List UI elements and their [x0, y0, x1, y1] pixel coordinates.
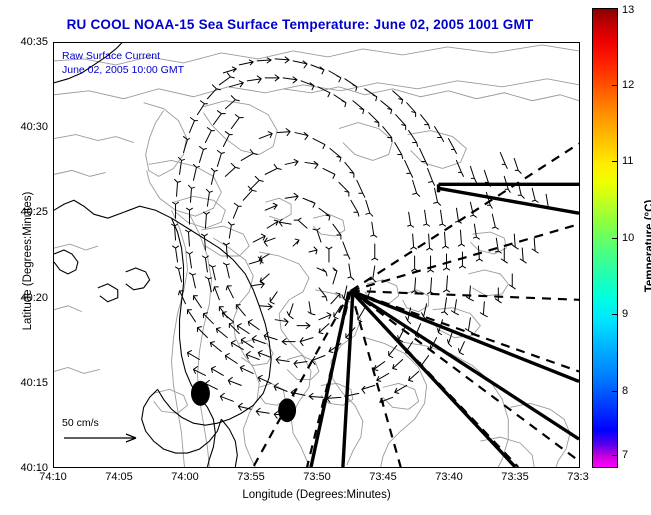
xtick-3: 73:55: [237, 471, 265, 483]
colorbar-tickmark-13: [612, 8, 618, 9]
colorbar-tick-11: 11: [622, 155, 633, 167]
page-title: RU COOL NOAA-15 Sea Surface Temperature:…: [0, 17, 600, 32]
colorbar-label: Temperature (°C): [644, 166, 651, 326]
scale-bar-legend: 50 cm/s: [62, 417, 162, 445]
xtick-5: 73:45: [369, 471, 397, 483]
ytick-0: 40:35: [8, 36, 48, 48]
ytick-1: 40:30: [8, 121, 48, 133]
colorbar-tickmark-12: [612, 85, 618, 86]
scale-bar-arrow: [62, 431, 154, 445]
map-plot-area[interactable]: Raw Surface Current June 02, 2005 10:00 …: [53, 42, 580, 468]
xtick-8: 73:3: [567, 471, 588, 483]
raw-surface-current-annotation: Raw Surface Current June 02, 2005 10:00 …: [62, 49, 184, 77]
scale-bar-label: 50 cm/s: [62, 417, 162, 429]
xtick-4: 73:50: [303, 471, 331, 483]
reference-arrow-icon: [62, 431, 154, 445]
colorbar-tickmark-7: [612, 455, 618, 456]
xtick-2: 74:00: [171, 471, 199, 483]
colorbar-tick-8: 8: [622, 385, 628, 397]
ytick-4: 40:15: [8, 377, 48, 389]
colorbar-tickmark-10: [612, 238, 618, 239]
xtick-6: 73:40: [435, 471, 463, 483]
colorbar-tick-7: 7: [622, 449, 628, 461]
colorbar-tickmark-11: [612, 161, 618, 162]
colorbar-tickmark-8: [612, 391, 618, 392]
ytick-5: 40:10: [8, 462, 48, 474]
annotation-line-1: Raw Surface Current: [62, 49, 184, 63]
annotation-line-2: June 02, 2005 10:00 GMT: [62, 63, 184, 77]
radar-radial-solid: [311, 184, 579, 467]
map-overlay-svg: [54, 43, 579, 467]
station-markers: [191, 381, 296, 422]
colorbar-tickmark-9: [612, 314, 618, 315]
surface-current-vectors: [172, 57, 552, 418]
sst-contour-lines: [54, 45, 579, 467]
colorbar-tick-9: 9: [622, 308, 628, 320]
station-marker-1: [191, 381, 210, 406]
station-marker-2: [278, 398, 296, 422]
colorbar-tick-12: 12: [622, 79, 634, 91]
y-axis-label: Latitude (Degrees:Minutes): [22, 181, 34, 341]
xtick-1: 74:05: [105, 471, 133, 483]
figure-canvas: RU COOL NOAA-15 Sea Surface Temperature:…: [0, 0, 651, 515]
colorbar-tick-13: 13: [622, 4, 634, 16]
colorbar-tick-10: 10: [622, 232, 634, 244]
x-axis-label: Longitude (Degrees:Minutes): [53, 489, 580, 501]
xtick-7: 73:35: [501, 471, 529, 483]
